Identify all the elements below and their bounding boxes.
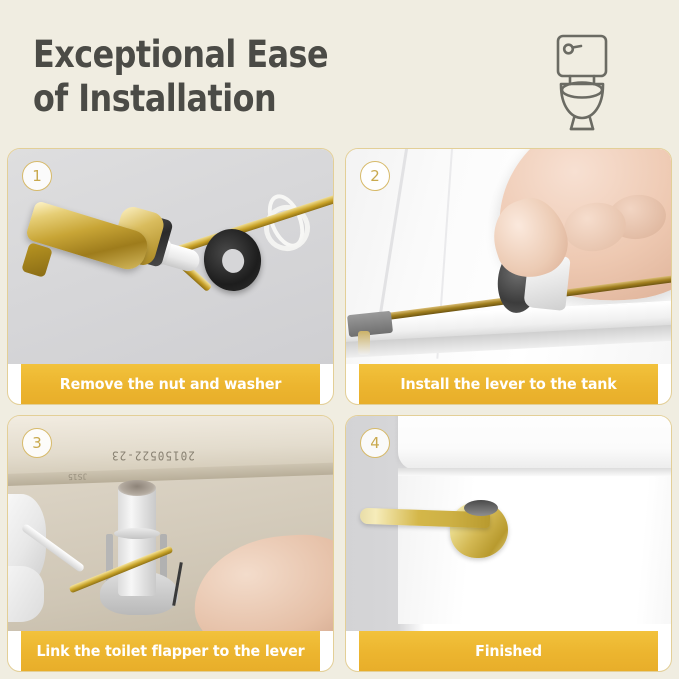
step-card-4[interactable]: 4 Finished <box>345 415 672 672</box>
tank-stamped-code: 20150522-23 <box>111 448 195 462</box>
toilet-icon <box>545 32 627 134</box>
hand <box>190 530 333 631</box>
step-3-badge: 3 <box>22 428 52 458</box>
step-card-1[interactable]: 1 Remove the nut and washer <box>7 148 334 405</box>
step-card-3[interactable]: 3 20150522-23 JS15 Link the toilet flapp… <box>7 415 334 672</box>
step-4-badge: 4 <box>360 428 390 458</box>
step-2-badge: 2 <box>360 161 390 191</box>
tank-stamped-code-secondary: JS15 <box>68 472 88 482</box>
lever-hub-shadow <box>464 500 498 516</box>
mounting-bolt <box>358 331 370 355</box>
step-4-photo: 4 <box>346 416 671 631</box>
tank-lid <box>398 416 671 470</box>
header-banner: Exceptional Ease of Installation <box>0 0 679 143</box>
step-3-photo: 3 20150522-23 JS15 <box>8 416 333 631</box>
step-3-caption: Link the toilet flapper to the lever <box>21 631 320 671</box>
step-2-caption: Install the lever to the tank <box>359 364 658 404</box>
metal-bracket <box>347 311 393 337</box>
overflow-pipe-opening <box>118 480 156 496</box>
overflow-pipe <box>118 486 156 596</box>
step-1-badge: 1 <box>22 161 52 191</box>
step-1-caption: Remove the nut and washer <box>21 364 320 404</box>
installation-steps-grid: 1 Remove the nut and washer 2 <box>7 148 672 672</box>
step-card-2[interactable]: 2 Install the lever to the tank <box>345 148 672 405</box>
gold-lever-handle-tip <box>21 242 53 278</box>
step-4-caption: Finished <box>359 631 658 671</box>
tank-lid-seam <box>398 468 671 476</box>
overflow-pipe-ring <box>114 528 160 539</box>
fill-valve-body <box>8 566 44 622</box>
page-title: Exceptional Ease of Installation <box>33 33 403 120</box>
step-2-photo: 2 <box>346 149 671 364</box>
toilet-tank <box>398 474 671 624</box>
step-1-photo: 1 <box>8 149 333 364</box>
